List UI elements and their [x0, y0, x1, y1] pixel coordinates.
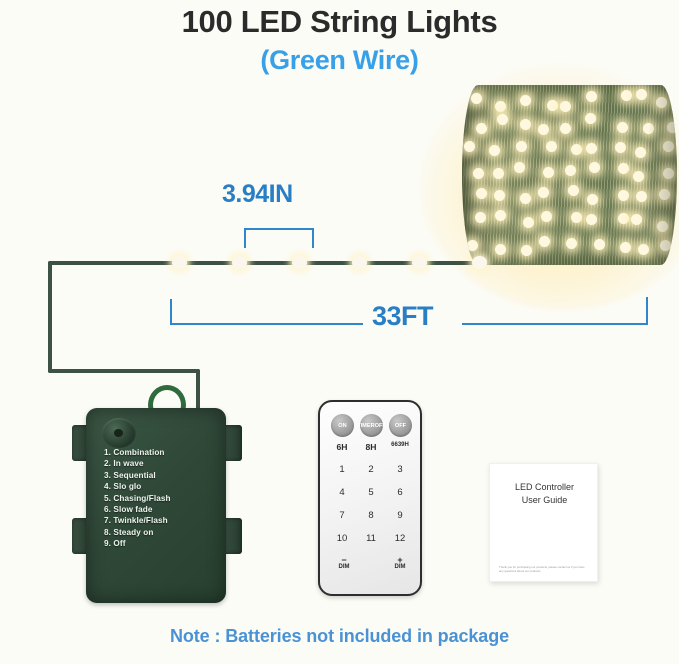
remote-timer-label-6639h[interactable]: 6639H [387, 442, 413, 449]
coil-led [571, 212, 582, 223]
wire-segment-bottom [48, 369, 200, 373]
mode-list-item: 1. Combination [104, 447, 171, 458]
length-measure-label: 33FT [372, 301, 433, 332]
remote-timer-label-6h[interactable]: 6H [329, 443, 355, 451]
user-guide-title-line1: LED Controller [490, 481, 599, 494]
remote-number-button-4[interactable]: 4 [329, 487, 355, 498]
coil-led [489, 145, 500, 156]
remote-number-button-12[interactable]: 12 [387, 533, 413, 544]
coil-led [618, 190, 629, 201]
coil-led [571, 144, 582, 155]
minus-icon: − [331, 557, 357, 564]
coil-led [514, 162, 525, 173]
led-bead [172, 256, 187, 269]
mode-list-item: 7. Twinkle/Flash [104, 515, 171, 526]
mode-list-item: 6. Slow fade [104, 504, 171, 515]
coil-led [539, 236, 550, 247]
length-bracket-left-tick [170, 299, 172, 325]
remote-number-button-6[interactable]: 6 [387, 487, 413, 498]
mode-list-item: 9. Off [104, 538, 171, 549]
remote-number-button-9[interactable]: 9 [387, 510, 413, 521]
coil-led [520, 193, 531, 204]
coil-led [473, 168, 484, 179]
coil-led [541, 211, 552, 222]
coil-led [538, 187, 549, 198]
wire-segment-left [48, 261, 52, 373]
coil-led [476, 188, 487, 199]
coil-led [594, 239, 605, 250]
coil-led [471, 93, 482, 104]
led-bead [232, 256, 247, 269]
page-title: 100 LED String Lights [0, 2, 679, 42]
coil-led [586, 91, 597, 102]
coil-led [516, 141, 527, 152]
mode-list-item: 3. Sequential [104, 470, 171, 481]
coil-led [493, 168, 504, 179]
user-guide-title: LED Controller User Guide [490, 481, 599, 507]
coil-led [633, 171, 644, 182]
remote-button-label: TIMER [357, 423, 374, 429]
product-infographic: 100 LED String Lights (Green Wire) 3.94I… [0, 0, 679, 664]
coil-led [568, 185, 579, 196]
remote-button-label: OFF [375, 423, 386, 429]
mode-list-item: 4. Slo glo [104, 481, 171, 492]
coil-led [520, 119, 531, 130]
coil-led [467, 240, 478, 251]
coil-led [656, 97, 667, 108]
battery-box-button-icon [102, 418, 136, 448]
user-guide-booklet: LED Controller User Guide Thank you for … [489, 463, 598, 582]
remote-number-button-7[interactable]: 7 [329, 510, 355, 521]
coil-led [494, 190, 505, 201]
remote-number-button-3[interactable]: 3 [387, 464, 413, 475]
coil-led [635, 147, 646, 158]
mode-list: 1. Combination2. In wave3. Sequential4. … [104, 447, 171, 550]
coil-led [631, 214, 642, 225]
coil-led [587, 194, 598, 205]
remote-timer-off-button[interactable]: TIMEROFF [360, 414, 383, 437]
led-string-light-coil [462, 85, 677, 265]
coil-led [617, 122, 628, 133]
remote-button-label: OFF [395, 423, 406, 429]
spacing-bracket-right-tick [312, 228, 314, 248]
coil-led [660, 240, 671, 251]
coil-led [636, 89, 647, 100]
coil-led [585, 113, 596, 124]
remote-dim-down-button[interactable]: − DIM [331, 557, 357, 571]
spacing-bracket-left-tick [244, 228, 246, 248]
mode-list-item: 8. Steady on [104, 527, 171, 538]
remote-control: ON TIMEROFF OFF 6H 8H 6639H 123456789101… [318, 400, 422, 596]
spacing-bracket-top [244, 228, 314, 230]
length-bracket-line-left [170, 323, 363, 325]
dim-down-label: DIM [339, 564, 350, 570]
coil-led [546, 141, 557, 152]
coil-led [659, 189, 670, 200]
coil-led [547, 100, 558, 111]
coil-led [520, 95, 531, 106]
length-bracket-right-tick [646, 297, 648, 325]
remote-button-label: ON [338, 423, 346, 429]
coil-led [663, 141, 674, 152]
coil-led [657, 221, 668, 232]
coil-led [621, 90, 632, 101]
coil-led [560, 123, 571, 134]
remote-on-button[interactable]: ON [331, 414, 354, 437]
remote-number-button-1[interactable]: 1 [329, 464, 355, 475]
coil-led [618, 213, 629, 224]
coil-led [636, 191, 647, 202]
remote-timer-label-8h[interactable]: 8H [358, 443, 384, 451]
coil-led [565, 165, 576, 176]
coil-led [566, 238, 577, 249]
led-bead [352, 256, 367, 269]
length-bracket-line-right [462, 323, 648, 325]
led-bead [292, 256, 307, 269]
coil-led [495, 101, 506, 112]
remote-dim-up-button[interactable]: + DIM [387, 557, 413, 571]
coil-led [476, 123, 487, 134]
user-guide-title-line2: User Guide [490, 494, 599, 507]
coil-led [497, 114, 508, 125]
coil-led [667, 122, 677, 133]
coil-led [538, 124, 549, 135]
dim-up-label: DIM [395, 564, 406, 570]
coil-led [521, 245, 532, 256]
coil-led [663, 168, 674, 179]
coil-led [620, 242, 631, 253]
remote-off-button[interactable]: OFF [389, 414, 412, 437]
coil-led [638, 244, 649, 255]
spacing-measure-label: 3.94IN [222, 180, 293, 209]
coil-led [464, 141, 475, 152]
plus-icon: + [387, 557, 413, 564]
mode-list-item: 5. Chasing/Flash [104, 493, 171, 504]
coil-led [589, 162, 600, 173]
remote-number-button-5[interactable]: 5 [358, 487, 384, 498]
led-bead [472, 256, 487, 269]
coil-led [643, 123, 654, 134]
coil-led [618, 163, 629, 174]
led-bead [412, 256, 427, 269]
coil-led [615, 142, 626, 153]
coil-led [543, 167, 554, 178]
remote-number-button-8[interactable]: 8 [358, 510, 384, 521]
coil-led [495, 244, 506, 255]
footer-note: Note : Batteries not included in package [0, 626, 679, 647]
coil-led [560, 101, 571, 112]
coil-led [495, 210, 506, 221]
coil-led [523, 217, 534, 228]
remote-number-button-10[interactable]: 10 [329, 533, 355, 544]
coil-led [475, 212, 486, 223]
mode-list-item: 2. In wave [104, 458, 171, 469]
user-guide-fineprint: Thank you for purchasing our products, p… [499, 565, 589, 573]
remote-number-button-2[interactable]: 2 [358, 464, 384, 475]
coil-led [586, 143, 597, 154]
coil-led [586, 214, 597, 225]
remote-number-button-11[interactable]: 11 [358, 533, 384, 544]
